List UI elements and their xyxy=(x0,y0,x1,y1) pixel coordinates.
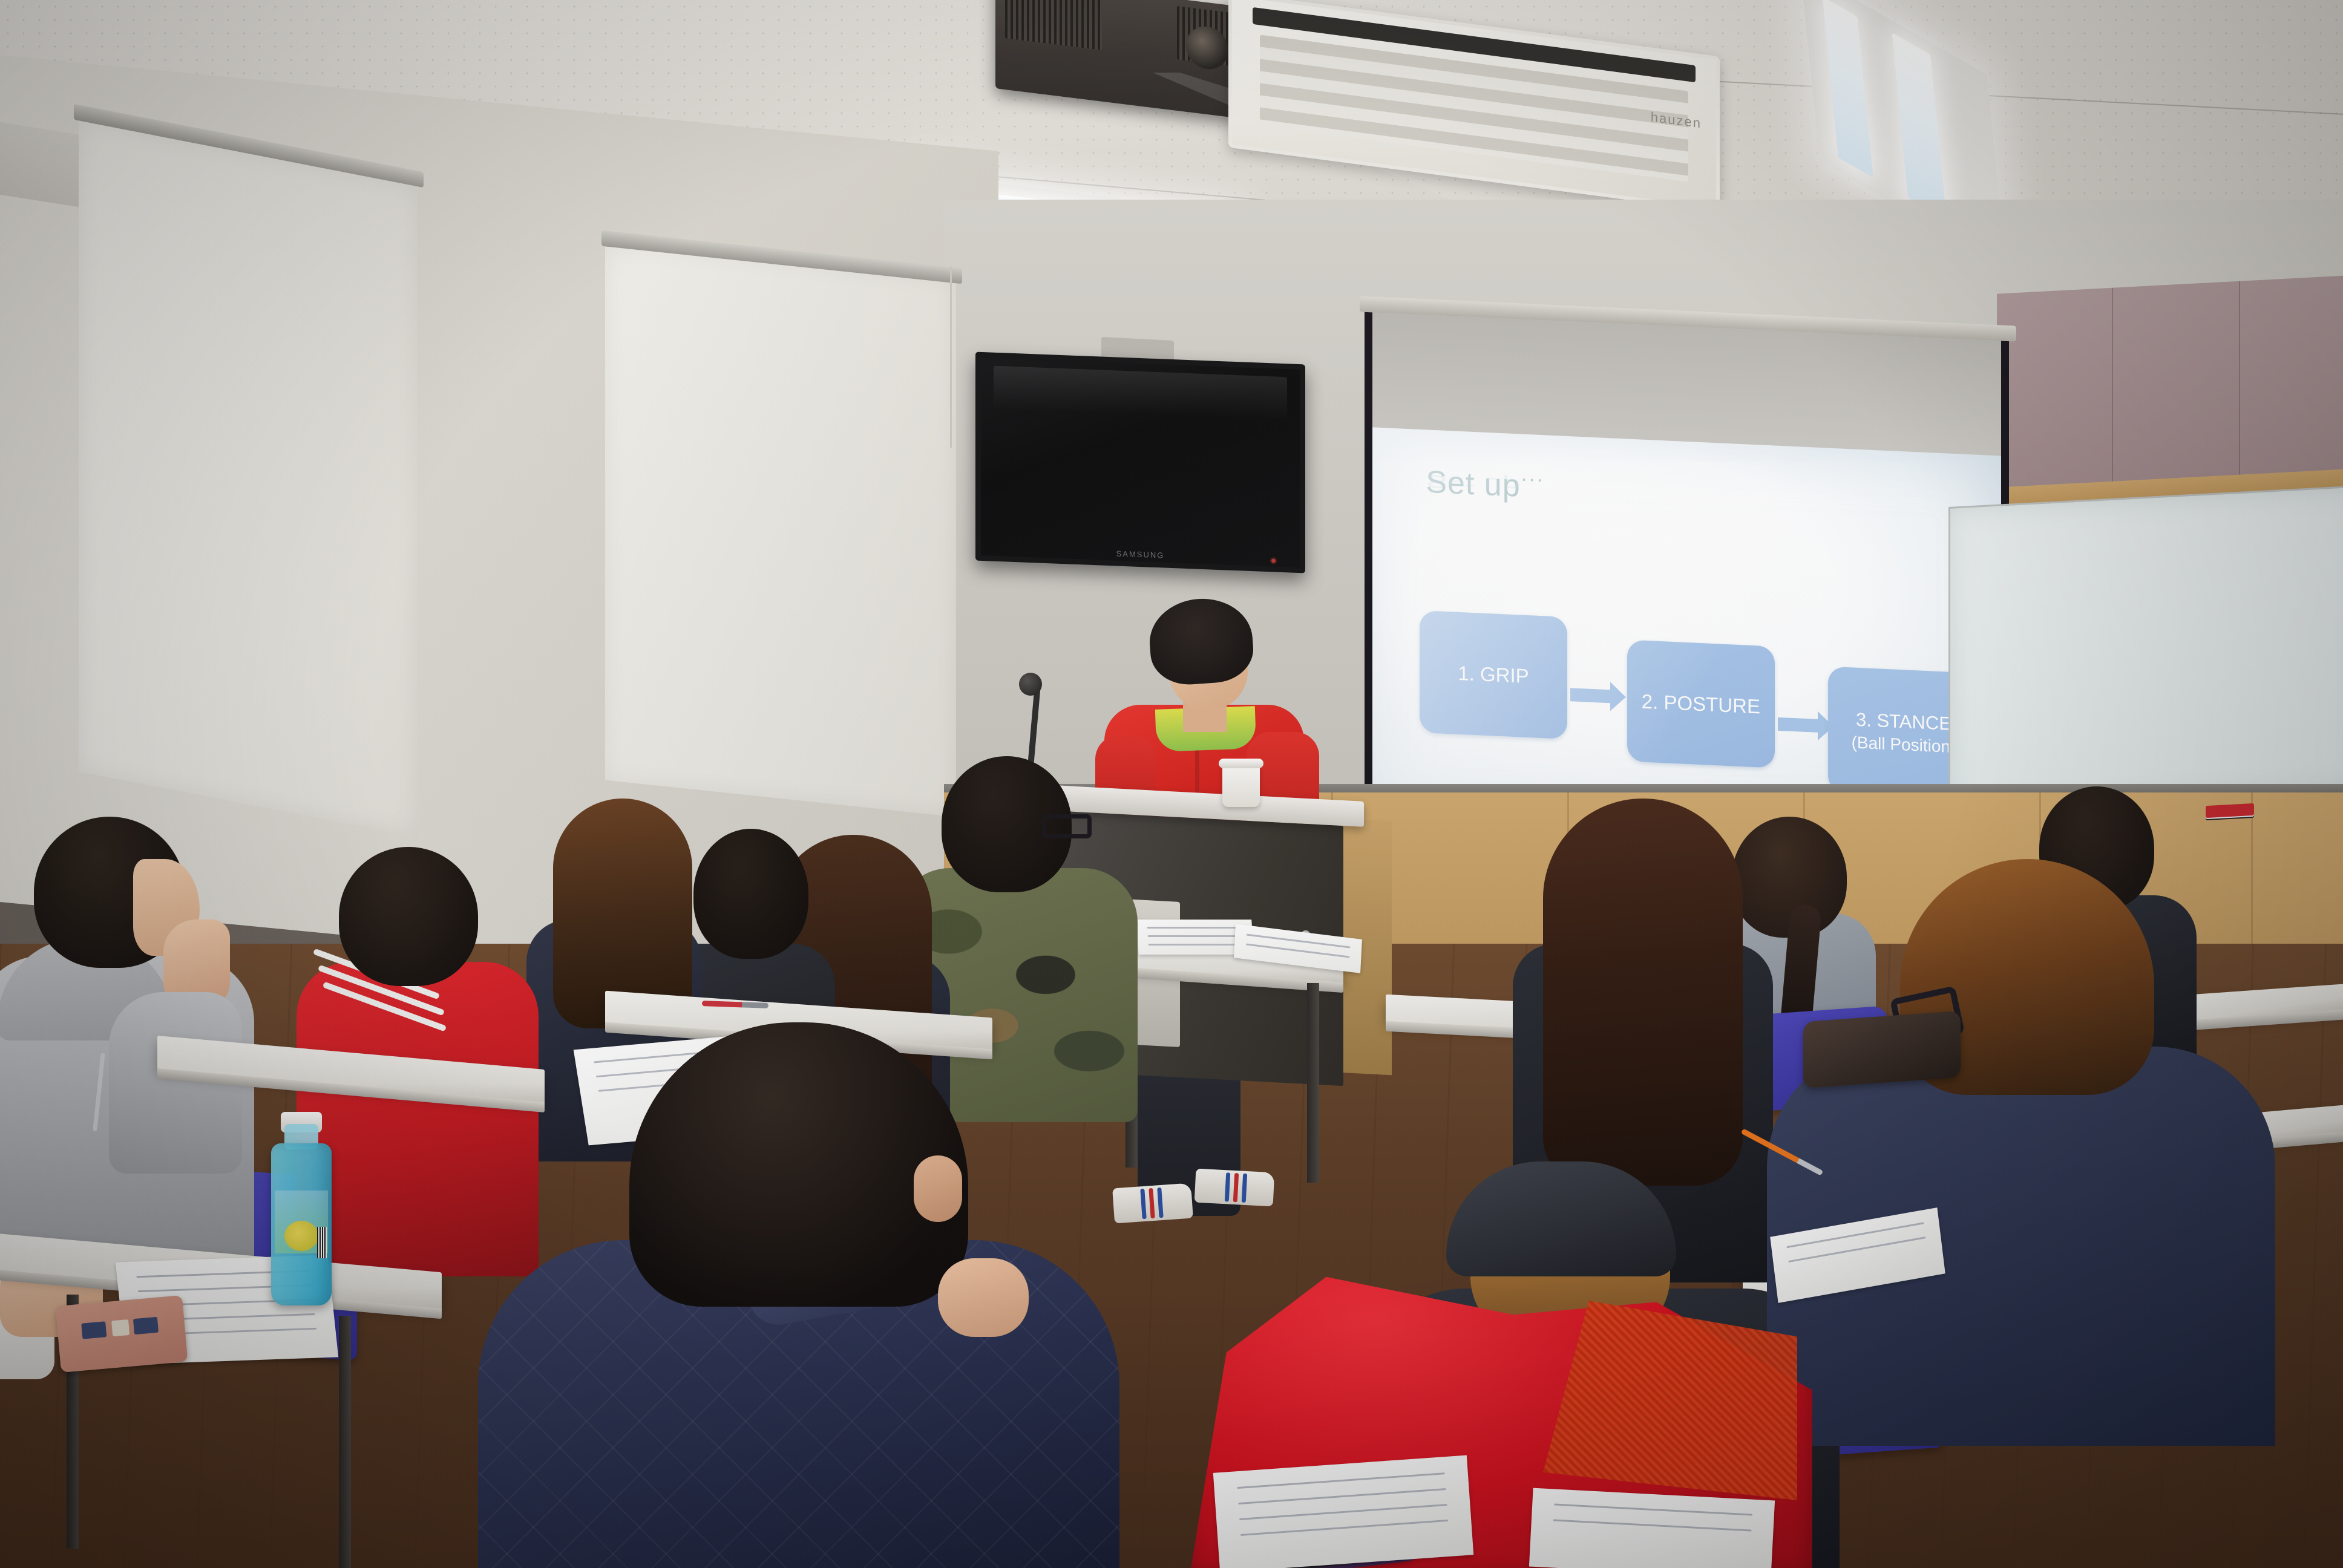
paper-coffee-cup[interactable] xyxy=(1222,763,1260,807)
student-ear xyxy=(914,1155,962,1222)
worksheet-paper[interactable] xyxy=(1213,1455,1473,1568)
roller-blind-center[interactable] xyxy=(605,242,956,817)
student-body xyxy=(297,962,539,1276)
microphone-head xyxy=(1019,673,1042,696)
slide-step-2: 2. POSTURE xyxy=(1627,639,1775,768)
bottle-lemon-graphic xyxy=(284,1221,318,1251)
instructor-shoe-left xyxy=(1112,1183,1193,1224)
screen-edge-left xyxy=(1365,312,1372,821)
pencil-case[interactable] xyxy=(1803,1011,1961,1088)
slide-step-2-label: 2. POSTURE xyxy=(1642,688,1760,719)
projection-screen: Set up··· Set up 1. GRIP 2. POSTURE 3. S… xyxy=(1365,312,2009,849)
pencil-case[interactable] xyxy=(56,1295,188,1373)
desk-leg xyxy=(339,1316,351,1568)
red-jacket-lining xyxy=(1543,1301,1797,1500)
coffee-cup-lid xyxy=(1219,759,1263,768)
student-hand xyxy=(938,1258,1029,1337)
slide-arrow-2 xyxy=(1778,717,1819,732)
desk-leg xyxy=(1307,983,1319,1183)
blind-pull-chain[interactable] xyxy=(950,266,952,448)
student-head xyxy=(693,829,808,959)
slide-title-reflection: Set up xyxy=(1426,471,1520,495)
fluorescent-tube xyxy=(1892,33,1946,220)
roller-blind-left[interactable] xyxy=(79,119,418,838)
slide-step-3-label: 3. STANCE xyxy=(1856,708,1951,736)
tv-power-led xyxy=(1271,558,1276,563)
wall-mounted-tv[interactable]: SAMSUNG xyxy=(975,352,1305,573)
whiteboard-eraser[interactable] xyxy=(2206,803,2254,818)
worksheet-paper[interactable] xyxy=(1529,1488,1775,1568)
whiteboard[interactable] xyxy=(1948,485,2343,813)
water-bottle[interactable] xyxy=(271,1143,332,1305)
bottle-barcode xyxy=(317,1227,327,1258)
slide-step-3-sublabel: (Ball Position) xyxy=(1852,731,1956,757)
classroom-photo: hauzen SAMSUNG Set up··· xyxy=(0,0,2343,1568)
student-head xyxy=(339,847,478,986)
slide-arrow-1 xyxy=(1570,688,1611,703)
student-hair xyxy=(1543,799,1743,1186)
fluorescent-tube xyxy=(1823,0,1873,178)
eyeglasses xyxy=(1042,814,1092,838)
acoustic-panel-right xyxy=(1997,275,2343,505)
tv-brand-label: SAMSUNG xyxy=(1116,549,1165,560)
slide-step-1: 1. GRIP xyxy=(1420,610,1567,739)
slide-title: Set up··· xyxy=(1426,461,1544,505)
slide-step-1-label: 1. GRIP xyxy=(1458,661,1529,689)
